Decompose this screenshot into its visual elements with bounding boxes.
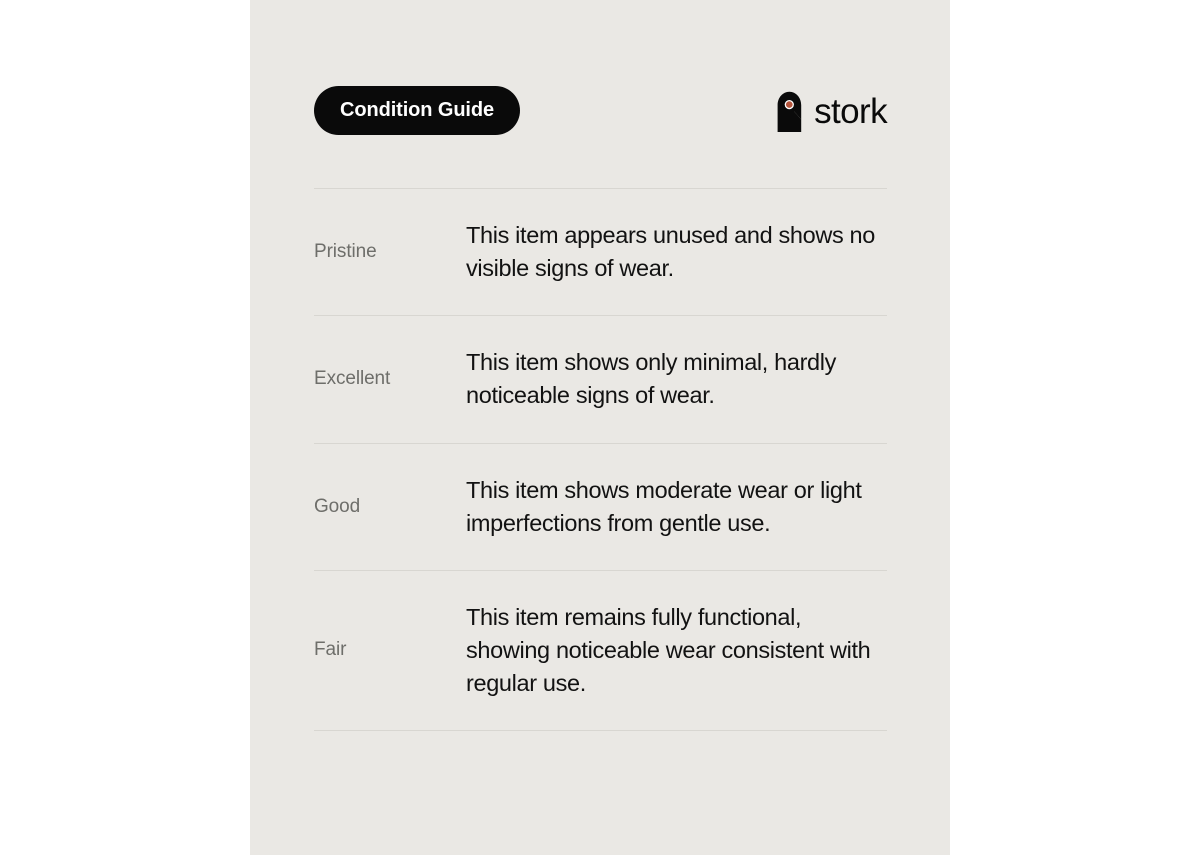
table-row: Fair This item remains fully functional,… — [314, 571, 887, 730]
condition-guide-badge-label: Condition Guide — [340, 99, 494, 122]
condition-description: This item shows moderate wear or light i… — [466, 474, 887, 540]
condition-guide-card: Condition Guide stork Pristine This — [250, 0, 950, 855]
page-root: Condition Guide stork Pristine This — [0, 0, 1200, 855]
condition-guide-badge[interactable]: Condition Guide — [314, 86, 520, 135]
condition-description: This item remains fully functional, show… — [466, 601, 887, 700]
condition-description: This item appears unused and shows no vi… — [466, 219, 887, 285]
table-row: Pristine This item appears unused and sh… — [314, 189, 887, 315]
condition-description: This item shows only minimal, hardly not… — [466, 346, 887, 412]
condition-name: Excellent — [314, 368, 466, 390]
condition-name: Pristine — [314, 241, 466, 263]
condition-name: Good — [314, 496, 466, 518]
table-row: Excellent This item shows only minimal, … — [314, 316, 887, 442]
table-row: Good This item shows moderate wear or li… — [314, 444, 887, 570]
brand-logo: stork — [773, 89, 887, 133]
condition-name: Fair — [314, 639, 466, 661]
table-divider — [314, 730, 887, 731]
stork-arch-mark-icon — [773, 89, 805, 133]
card-header: Condition Guide stork — [314, 86, 887, 136]
condition-guide-table: Pristine This item appears unused and sh… — [314, 188, 887, 731]
brand-wordmark: stork — [814, 94, 887, 129]
